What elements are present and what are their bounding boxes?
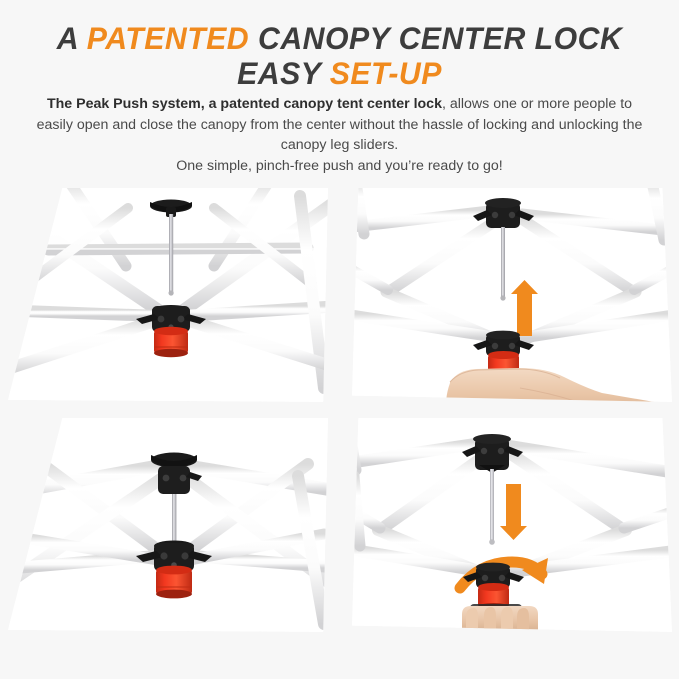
push-rod	[169, 214, 173, 292]
panel-top-left	[8, 188, 328, 402]
panel-bottom-left-photo	[8, 418, 328, 632]
panel-top-left-photo	[8, 188, 328, 402]
description-bold-lead: The Peak Push system, a patented canopy …	[47, 96, 442, 112]
headline-word-setup: SET-UP	[330, 55, 442, 91]
headline-word-canopy-center-lock: CANOPY CENTER LOCK	[249, 20, 622, 56]
headline-word-easy: EASY	[237, 55, 330, 91]
headline-word-a: A	[57, 20, 87, 56]
panel-bottom-right-photo	[352, 418, 672, 632]
panel-top-right	[352, 188, 672, 402]
header-block: A PATENTED CANOPY CENTER LOCK EASY SET-U…	[0, 0, 679, 186]
panel-top-right-photo	[352, 188, 672, 402]
headline-line-2: EASY SET-UP	[14, 58, 666, 90]
product-feature-graphic: A PATENTED CANOPY CENTER LOCK EASY SET-U…	[0, 0, 679, 679]
red-lock-base	[154, 327, 188, 357]
description-last-line: One simple, pinch-free push and you’re r…	[176, 158, 503, 174]
push-rod	[172, 494, 176, 546]
panel-grid	[0, 186, 679, 638]
push-rod	[490, 469, 494, 541]
headline-word-patented: PATENTED	[87, 20, 249, 56]
description-paragraph: The Peak Push system, a patented canopy …	[32, 94, 647, 176]
push-rod	[501, 227, 505, 297]
hands-gripping	[462, 604, 538, 632]
headline-line-1: A PATENTED CANOPY CENTER LOCK	[14, 23, 666, 55]
panel-bottom-right	[352, 418, 672, 632]
panel-bottom-left	[8, 418, 328, 632]
red-lock-base	[156, 566, 192, 599]
